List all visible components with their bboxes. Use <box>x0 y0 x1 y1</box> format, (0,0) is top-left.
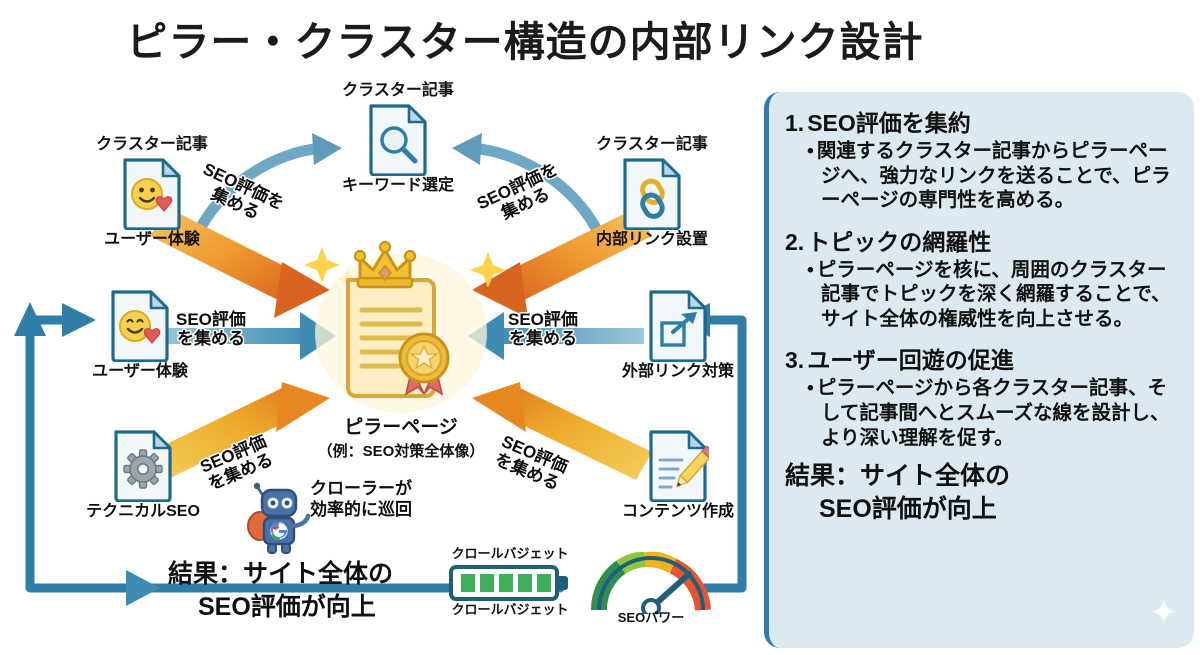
arrow-label-top-right: SEO評価を 集める <box>474 159 569 230</box>
panel-result-line1: 結果：サイト全体の <box>785 460 1180 493</box>
magnifier-document-icon <box>367 102 429 176</box>
battery-icon <box>440 562 580 602</box>
node-technical-seo-bottom-label: テクニカルSEO <box>68 503 218 521</box>
node-ux-mid-bottom-label: ユーザー体験 <box>70 363 210 381</box>
node-content[interactable]: コンテンツ作成 <box>598 428 758 521</box>
smiley-heart-document-icon <box>109 288 171 362</box>
panel-num-2: 2. <box>785 229 804 255</box>
pillar-sublabel: （例：SEO対策全体像） <box>306 440 496 461</box>
crawler-caption: クローラーが 効率的に巡回 <box>310 478 412 521</box>
panel-heading-1: 1.SEO評価を集約 <box>785 104 1180 138</box>
node-internal-link-bottom-label: 内部リンク設置 <box>562 231 742 249</box>
node-ux-top-bottom-label: ユーザー体験 <box>72 231 232 249</box>
node-external-link[interactable]: 外部リンク対策 <box>600 288 756 381</box>
chain-link-document-icon <box>621 156 683 230</box>
meter-seo-power: SEOパワー <box>586 552 716 626</box>
node-internal-link-top-label: クラスター記事 <box>562 136 742 154</box>
panel-body-3-text: ピラーページから各クラスター記事、そして記事間へとスムーズな線を設計し、より深い… <box>817 377 1170 448</box>
sparkle-icon: ✦ <box>1150 596 1179 630</box>
crawler-caption-line2: 効率的に巡回 <box>310 499 412 520</box>
page-title: ピラー・クラスター構造の内部リンク設計 <box>0 8 1050 68</box>
node-content-bottom-label: コンテンツ作成 <box>598 503 758 521</box>
pencil-document-icon <box>647 428 709 502</box>
bullet-icon-2: • <box>807 259 814 281</box>
crowned-document-medal-icon <box>306 238 496 413</box>
node-keyword[interactable]: クラスター記事 キーワード選定 <box>318 82 478 196</box>
node-technical-seo[interactable]: テクニカルSEO <box>68 428 218 521</box>
panel-result: 結果：サイト全体の SEO評価が向上 <box>785 460 1180 525</box>
crawler-robot-icon <box>236 474 312 558</box>
panel-body-3: •ピラーページから各クラスター記事、そして記事間へとスムーズな線を設計し、より深… <box>807 376 1180 450</box>
external-link-document-icon <box>647 288 709 362</box>
panel-heading-3: 3.ユーザー回遊の促進 <box>785 341 1180 375</box>
panel-heading-3-text: ユーザー回遊の促進 <box>807 347 1014 373</box>
arrow-label-bottom-right: SEO評価 を集める <box>491 432 570 494</box>
node-keyword-bottom-label: キーワード選定 <box>318 177 478 195</box>
smiley-heart-document-icon <box>121 156 183 230</box>
gauge-icon <box>586 552 716 610</box>
infographic-canvas: ピラー・クラスター構造の内部リンク設計 <box>0 0 1200 655</box>
bullet-icon-1: • <box>807 140 814 162</box>
crawl-budget-top-label: クロールバジェット <box>440 546 580 562</box>
panel-heading-1-text: SEO評価を集約 <box>807 110 971 136</box>
panel-body-1: •関連するクラスター記事からピラーページへ、強力なリンクを送ることで、ピラーペー… <box>807 139 1180 213</box>
bullet-icon-3: • <box>807 377 814 399</box>
arrow-label-mid-right: SEO評価 を集める <box>508 310 578 348</box>
panel-body-2: •ピラーページを核に、周囲のクラスター記事でトピックを深く網羅することで、サイト… <box>807 258 1180 332</box>
node-internal-link[interactable]: クラスター記事 内部リンク設置 <box>562 136 742 250</box>
result-bottom: 結果：サイト全体の SEO評価が向上 <box>168 558 393 624</box>
meter-crawl-budget: クロールバジェット クロールバジェット <box>440 546 580 617</box>
result-bottom-line2: SEO評価が向上 <box>168 591 393 624</box>
result-bottom-line1: 結果：サイト全体の <box>168 558 393 591</box>
pillar-page-node[interactable]: ピラーページ （例：SEO対策全体像） <box>306 238 496 461</box>
arrow-label-mid-left: SEO評価 を集める <box>176 310 246 348</box>
panel-num-1: 1. <box>785 110 804 136</box>
panel-num-3: 3. <box>785 347 804 373</box>
node-external-link-bottom-label: 外部リンク対策 <box>600 363 756 381</box>
node-ux-top-top-label: クラスター記事 <box>72 136 232 154</box>
crawl-budget-bottom-label: クロールバジェット <box>440 602 580 618</box>
panel-heading-2-text: トピックの網羅性 <box>807 229 991 255</box>
panel-body-1-text: 関連するクラスター記事からピラーページへ、強力なリンクを送ることで、ピラーページ… <box>817 140 1171 211</box>
node-keyword-top-label: クラスター記事 <box>318 82 478 100</box>
gear-document-icon <box>112 428 174 502</box>
panel-result-line2: SEO評価が向上 <box>785 493 1180 526</box>
panel-body-2-text: ピラーページを核に、周囲のクラスター記事でトピックを深く網羅することで、サイト全… <box>817 259 1171 330</box>
insights-panel: 1.SEO評価を集約 •関連するクラスター記事からピラーページへ、強力なリンクを… <box>764 92 1194 648</box>
arrow-to-result <box>126 570 160 606</box>
crawler-caption-line1: クローラーが <box>310 478 412 499</box>
panel-heading-2: 2.トピックの網羅性 <box>785 223 1180 257</box>
pillar-label: ピラーページ <box>306 417 496 440</box>
